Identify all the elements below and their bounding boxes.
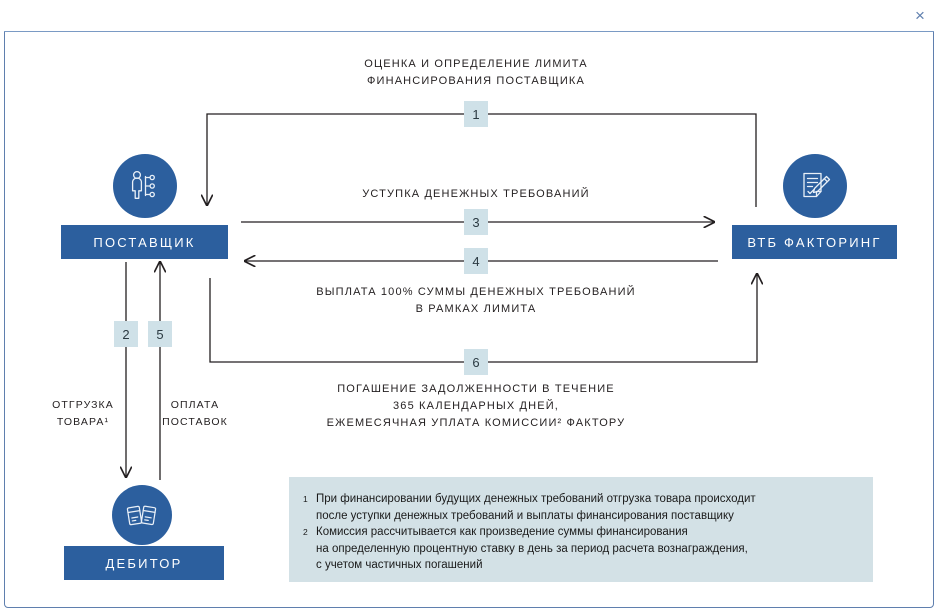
footnote-text: При финансировании будущих денежных треб… — [316, 491, 756, 524]
flow-badge-5: 5 — [148, 321, 172, 347]
footnote-text: Комиссия рассчитывается как произведение… — [316, 524, 748, 574]
entity-supplier[interactable]: ПОСТАВЩИК — [61, 225, 228, 259]
flow-caption-6: ПОГАШЕНИЕ ЗАДОЛЖЕННОСТИ В ТЕЧЕНИЕ 365 КА… — [276, 381, 676, 432]
flow-caption-5: ОПЛАТА ПОСТАВОК — [145, 397, 245, 431]
person-network-icon — [113, 154, 177, 218]
footnote-marker: 1 — [303, 491, 316, 524]
entity-factor[interactable]: ВТБ ФАКТОРИНГ — [732, 225, 897, 259]
footnote-item: 1 При финансировании будущих денежных тр… — [303, 491, 857, 524]
footnote-item: 2 Комиссия рассчитывается как произведен… — [303, 524, 857, 574]
footnote-panel: 1 При финансировании будущих денежных тр… — [289, 477, 873, 582]
flow-caption-1: ОЦЕНКА И ОПРЕДЕЛЕНИЕ ЛИМИТА ФИНАНСИРОВАН… — [276, 56, 676, 90]
footnote-marker: 2 — [303, 524, 316, 574]
flow-caption-3: УСТУПКА ДЕНЕЖНЫХ ТРЕБОВАНИЙ — [276, 186, 676, 203]
flow-badge-1: 1 — [464, 101, 488, 127]
flow-badge-3: 3 — [464, 209, 488, 235]
flow-badge-2: 2 — [114, 321, 138, 347]
flow-badge-6: 6 — [464, 349, 488, 375]
document-pen-icon — [783, 154, 847, 218]
entity-debtor[interactable]: ДЕБИТОР — [64, 546, 224, 580]
flow-badge-4: 4 — [464, 248, 488, 274]
flow-caption-2: ОТГРУЗКА ТОВАРА¹ — [33, 397, 133, 431]
diagram-canvas: ПОСТАВЩИК ВТБ ФАКТОРИНГ ДЕБИТОР — [0, 0, 940, 613]
flow-caption-4: ВЫПЛАТА 100% СУММЫ ДЕНЕЖНЫХ ТРЕБОВАНИЙ В… — [276, 284, 676, 318]
documents-icon — [112, 485, 172, 545]
